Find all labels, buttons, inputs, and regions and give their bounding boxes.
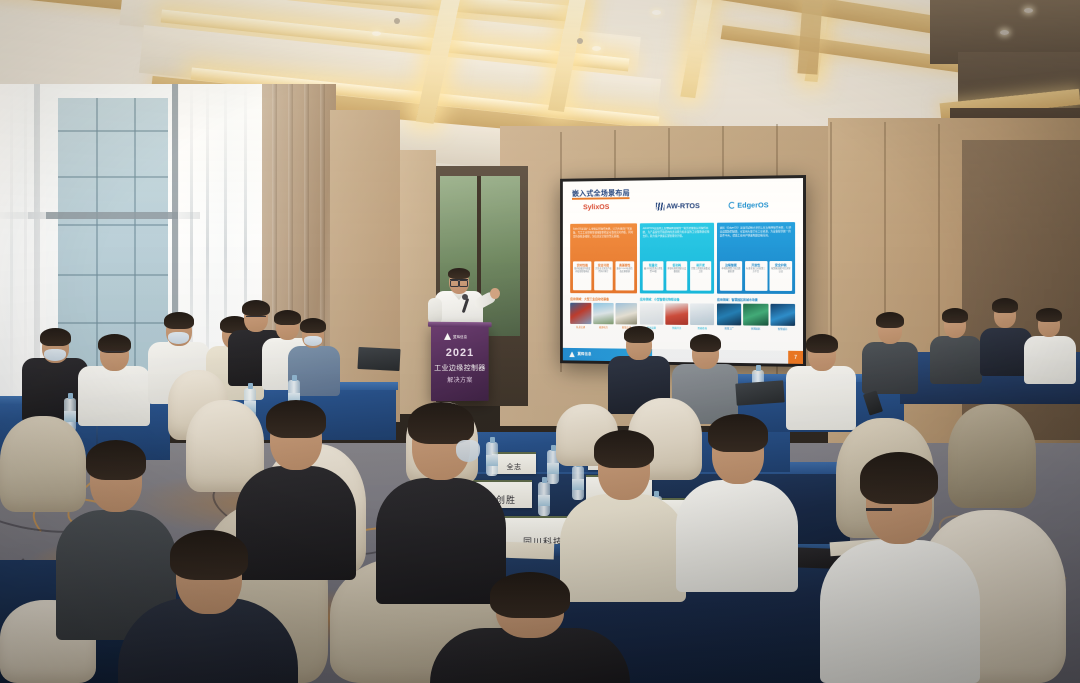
feature-card: 安全可控 完全自主知识产权代码可审计 <box>594 261 613 290</box>
slide-title-underline <box>572 197 630 199</box>
feature-card: 轻量化 最小内核资源占用低至KB级 <box>643 261 664 290</box>
company-logo-icon <box>444 333 451 340</box>
feature-card-body: 微内核硬实时调度内核毫秒级响应 <box>574 268 591 274</box>
scenario-thumbs <box>570 302 637 324</box>
podium-logo: 翼辉信息 <box>444 333 467 340</box>
panel-aw-rtos-body: AW-RTOS是面向工业物联网领域的一站式轻量级实时操作系统，为产品提供开箱即用… <box>643 227 712 253</box>
feature-card: 安全护航 端到端加密可信身份认证 <box>769 261 792 291</box>
brand-sylixos-label: SylixOS <box>583 202 609 211</box>
attendee-foreground <box>376 404 506 604</box>
conference-room-photo: 嵌入式全场景布局 SylixOS AW-RTOS EdgerOS SylixOS… <box>0 0 1080 683</box>
panel-sylixos: SylixOS是国产工业级实时操作系统，已为大量国产化装备、军工工业控制等领域提… <box>570 223 637 293</box>
presenter-hair <box>448 268 470 279</box>
slide-panels: SylixOS是国产工业级实时操作系统，已为大量国产化装备、军工工业控制等领域提… <box>570 222 795 294</box>
brand-edgeros: EdgerOS <box>729 200 769 209</box>
feature-card-heading: 边缘智能 <box>721 263 741 267</box>
feature-card-body: 标准化接口对接第三方平台 <box>746 268 767 275</box>
scenario-thumb-image <box>717 303 742 325</box>
scenario-thumb-image <box>690 303 714 325</box>
feature-card-heading: 安全护航 <box>770 263 791 267</box>
podium: 翼辉信息 2021 工业边缘控制器 解决方案 <box>431 325 489 401</box>
podium-headline-line1: 工业边缘控制器 <box>431 363 489 373</box>
feature-card: 易开发 完整工具链快速集成上线 <box>690 261 711 291</box>
scenario-thumbs <box>717 303 795 325</box>
laptop[interactable] <box>735 380 784 405</box>
panel-aw-rtos: AW-RTOS是面向工业物联网领域的一站式轻量级实时操作系统，为产品提供开箱即用… <box>640 223 714 294</box>
panel-sylixos-cards: 实时性强 微内核硬实时调度内核毫秒级响应 安全可控 完全自主知识产权代码可审计 … <box>573 261 634 290</box>
feature-card-heading: 低功耗 <box>667 263 686 267</box>
feature-card-heading: 高兼容性 <box>616 263 633 267</box>
feature-card: 开放性 标准化接口对接第三方平台 <box>745 261 767 291</box>
presenter-hand <box>490 288 500 299</box>
scenario-caption: 轨道交通 <box>570 325 591 329</box>
feature-card-heading: 开放性 <box>746 263 767 267</box>
attendee <box>786 330 856 430</box>
microphone-head-icon <box>462 294 468 300</box>
feature-card-heading: 实时性强 <box>574 263 591 267</box>
scenario-thumb-image <box>770 303 795 325</box>
water-bottle <box>538 482 550 516</box>
podium-year: 2021 <box>431 347 489 359</box>
rtos-bars-icon <box>656 202 665 210</box>
panel-edgeros-body: 翼辉（EdgerOS）是面向边缘计算的工业互联网操作系统，打通云边端协同链路，可… <box>720 226 792 252</box>
panel-aw-rtos-cards: 轻量化 最小内核资源占用低至KB级 低功耗 多级电源管理延长设备续航 易开发 完… <box>643 261 712 291</box>
feature-card-body: 完整工具链快速集成上线 <box>691 268 710 274</box>
attendee <box>930 308 982 384</box>
wall-between <box>330 110 400 422</box>
feature-card-heading: 易开发 <box>691 263 710 267</box>
scenario-thumb-image <box>640 303 663 325</box>
feature-card: 实时性强 微内核硬实时调度内核毫秒级响应 <box>573 261 592 290</box>
attendee <box>862 312 918 394</box>
attendee <box>78 330 150 426</box>
presenter-left-arm <box>428 298 442 324</box>
panel-edgeros-cards: 边缘智能 本地推理算力就近数据处理 开放性 标准化接口对接第三方平台 安全护航 … <box>720 261 792 291</box>
attendee-foreground <box>430 582 630 683</box>
scenario-label: 应用领域：小型智能化物联设备 <box>640 297 714 301</box>
podium-logo-text: 翼辉信息 <box>453 334 467 339</box>
scenario-thumb-image <box>743 303 768 325</box>
slide-footer-logo-text: 翼辉信息 <box>578 352 592 357</box>
brand-aw-rtos: AW-RTOS <box>656 201 700 210</box>
scenario-label: 应用领域：大型工业自动化装备 <box>570 297 637 301</box>
feature-card-body: 本地推理算力就近数据处理 <box>721 268 741 275</box>
attendee <box>1024 310 1076 384</box>
feature-card-body: 兼容POSIX标准生态迁移便捷 <box>616 268 633 274</box>
attendee-foreground <box>820 452 980 683</box>
edger-circle-icon <box>729 202 736 209</box>
scenario-caption: 智慧园区 <box>743 326 768 330</box>
feature-card: 低功耗 多级电源管理延长设备续航 <box>666 261 687 290</box>
scenario-thumb-image <box>616 303 637 325</box>
attendee-foreground <box>676 416 798 592</box>
attendee-foreground <box>118 536 298 683</box>
feature-card-body: 完全自主知识产权代码可审计 <box>595 268 612 274</box>
feature-card-heading: 安全可控 <box>595 263 612 267</box>
feature-card-body: 最小内核资源占用低至KB级 <box>644 268 663 274</box>
brand-sylixos: SylixOS <box>583 202 609 211</box>
feature-card-heading: 轻量化 <box>644 263 663 267</box>
feature-card-body: 多级电源管理延长设备续航 <box>667 268 686 274</box>
podium-top-surface <box>428 322 492 328</box>
presenter <box>424 266 496 330</box>
scenario-thumb-image <box>593 302 614 323</box>
brand-edgeros-label: EdgerOS <box>737 200 768 209</box>
attendee-foreground <box>560 432 686 602</box>
panel-sylixos-body: SylixOS是国产工业级实时操作系统，已为大量国产化装备、军工工业控制等领域提… <box>573 227 634 252</box>
scenario-label: 应用领域：智慧园区和城市场景 <box>717 298 795 302</box>
panel-edgeros: 翼辉（EdgerOS）是面向边缘计算的工业互联网操作系统，打通云边端协同链路，可… <box>717 222 795 294</box>
company-logo-icon <box>569 351 575 357</box>
scenario-thumb-image <box>570 302 591 323</box>
feature-card: 高兼容性 兼容POSIX标准生态迁移便捷 <box>615 261 634 290</box>
podium-headline-line2: 解决方案 <box>431 375 489 384</box>
feature-card-body: 端到端加密可信身份认证 <box>770 268 791 275</box>
presenter-glasses <box>450 279 468 284</box>
slide-brand-row: SylixOS AW-RTOS EdgerOS <box>563 200 803 222</box>
laptop[interactable] <box>357 347 400 371</box>
brand-aw-rtos-label: AW-RTOS <box>666 201 700 210</box>
feature-card: 边缘智能 本地推理算力就近数据处理 <box>720 261 742 291</box>
